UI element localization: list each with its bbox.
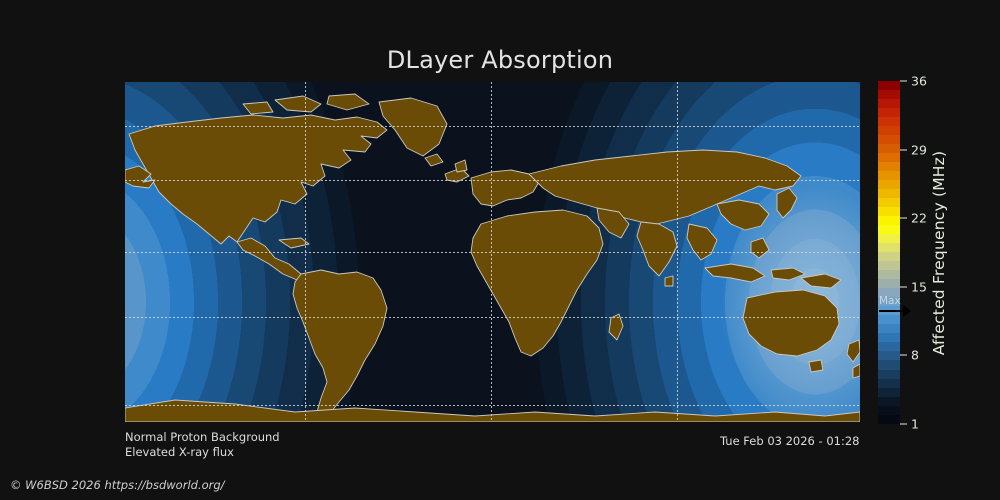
gridline-lat-60s [125,405,860,406]
colorbar-segment [878,81,900,90]
colorbar-segment [878,153,900,162]
colorbar-tick: 36 [900,74,927,89]
colorbar-segment [878,252,900,261]
page-title: DLayer Absorption [0,46,1000,74]
max-marker-arrow-line [879,310,905,312]
colorbar-segment [878,370,900,379]
status-xray-flux: Elevated X-ray flux [125,445,280,460]
colorbar-segment [878,279,900,288]
gridline-lon-0 [491,82,492,422]
colorbar-tick: 1 [900,417,919,432]
colorbar-segment [878,360,900,369]
timestamp: Tue Feb 03 2026 - 01:28 [720,434,859,448]
status-block: Normal Proton Background Elevated X-ray … [125,430,280,460]
colorbar-axis-label-text: Affected Frequency (MHz) [930,150,948,354]
colorbar-tick-dash [900,355,907,356]
colorbar-axis-label: Affected Frequency (MHz) [926,81,952,424]
colorbar-segment [878,207,900,216]
colorbar-segment [878,126,900,135]
colorbar-segment [878,90,900,99]
lat-lon-grid [125,82,860,422]
colorbar-tick-label: 1 [911,417,919,432]
colorbar-segment [878,162,900,171]
colorbar-segment [878,261,900,270]
colorbar-tick-dash [900,81,907,82]
gridline-lat-60n [125,126,860,127]
colorbar-segment [878,415,900,424]
gridline-lon-90e [677,82,678,422]
colorbar-segment [878,351,900,360]
colorbar-tick-dash [900,149,907,150]
colorbar-segment [878,406,900,415]
copyright-footer: © W6BSD 2026 https://bsdworld.org/ [10,478,225,492]
colorbar-segment [878,171,900,180]
colorbar-segment [878,225,900,234]
colorbar-tick: 15 [900,279,927,294]
colorbar-tick: 29 [900,142,927,157]
colorbar-segment [878,333,900,342]
colorbar-segment [878,144,900,153]
gridline-lat-0 [125,252,860,253]
colorbar-tick-dash [900,424,907,425]
colorbar-tick: 8 [900,348,919,363]
colorbar-tick-label: 22 [911,211,927,226]
colorbar-segment [878,135,900,144]
gridline-lat-30s [125,317,860,318]
colorbar-tick-label: 8 [911,348,919,363]
colorbar-segment [878,388,900,397]
colorbar-tick-label: 15 [911,279,927,294]
colorbar-tick-dash [900,286,907,287]
chart-canvas: DLayer Absorption [0,0,1000,500]
world-map [125,82,860,422]
gridline-lon-90w [305,82,306,422]
colorbar-segment [878,342,900,351]
colorbar-tick-label: 29 [911,142,927,157]
status-proton-background: Normal Proton Background [125,430,280,445]
colorbar-segment [878,379,900,388]
colorbar-segment [878,117,900,126]
colorbar-segment [878,108,900,117]
max-marker-arrow-head [903,305,911,317]
colorbar-tick-label: 36 [911,74,927,89]
colorbar-segment [878,234,900,243]
gridline-lat-30n [125,180,860,181]
colorbar-segment [878,270,900,279]
colorbar-segment [878,99,900,108]
colorbar-segment [878,189,900,198]
colorbar-segment [878,324,900,333]
colorbar-segment [878,216,900,225]
max-marker-label: Max [879,295,901,307]
colorbar-segment [878,180,900,189]
colorbar-segment [878,397,900,406]
colorbar [878,81,900,424]
colorbar-segment [878,243,900,252]
colorbar-segment [878,198,900,207]
colorbar-tick: 22 [900,211,927,226]
colorbar-tick-dash [900,218,907,219]
